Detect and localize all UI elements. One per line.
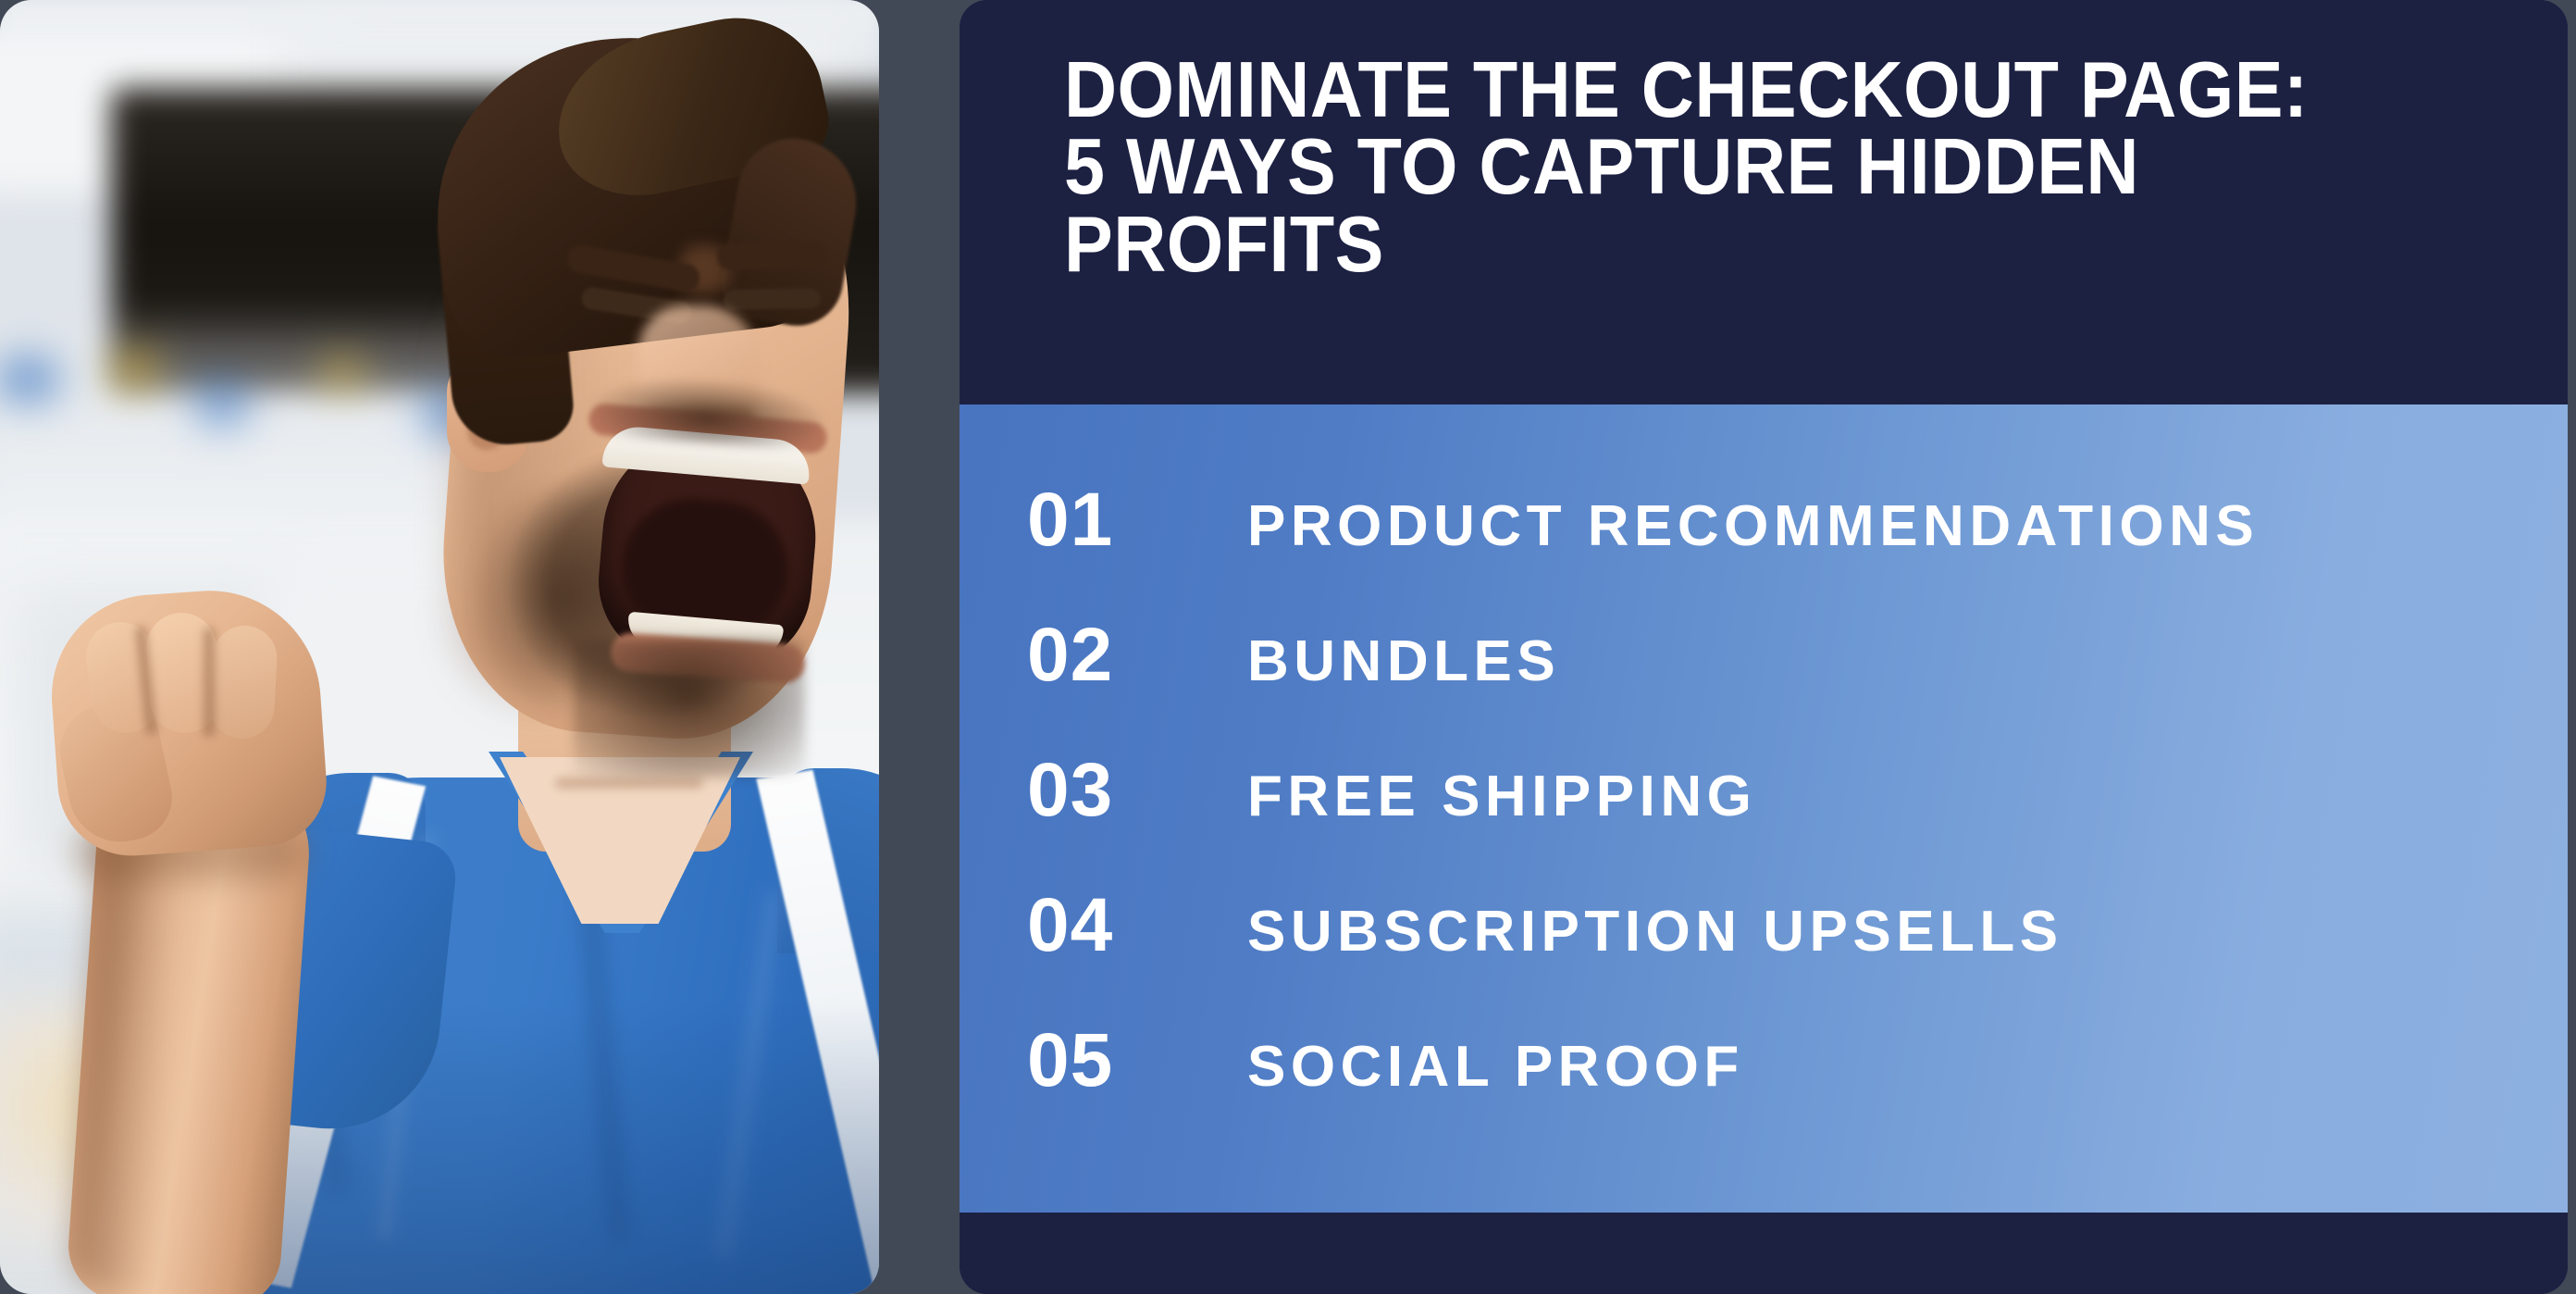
eye-right xyxy=(724,288,821,310)
list-item-label: Social Proof xyxy=(1247,1039,1744,1096)
list-item-number: 05 xyxy=(1027,1023,1247,1099)
eyebrow-right xyxy=(717,241,829,270)
list-item-number: 03 xyxy=(1027,753,1247,828)
list-item-number: 02 xyxy=(1027,617,1247,693)
list-item-label: Subscription Upsells xyxy=(1247,903,2063,961)
page-title: Dominate the Checkout Page: 5 Ways to Ca… xyxy=(1064,52,2337,283)
content-card: Dominate the Checkout Page: 5 Ways to Ca… xyxy=(960,0,2568,1294)
list-item: 01 Product Recommendations xyxy=(1027,482,2508,617)
list-item-number: 01 xyxy=(1027,482,1247,558)
card-header: Dominate the Checkout Page: 5 Ways to Ca… xyxy=(960,0,2568,404)
list-item-label: Bundles xyxy=(1247,633,1560,691)
list-item-label: Product Recommendations xyxy=(1247,498,2259,555)
beard-chin xyxy=(574,639,805,778)
knuckle-three xyxy=(208,624,279,740)
card-body: 01 Product Recommendations 02 Bundles 03… xyxy=(960,404,2568,1213)
list-item: 02 Bundles xyxy=(1027,617,2508,753)
slide-canvas: Dominate the Checkout Page: 5 Ways to Ca… xyxy=(0,0,2576,1294)
card-footer-band xyxy=(960,1213,2568,1294)
athlete-figure xyxy=(0,0,879,1294)
list-item-number: 04 xyxy=(1027,888,1247,964)
list-item: 03 Free Shipping xyxy=(1027,753,2508,888)
list-item: 04 Subscription Upsells xyxy=(1027,888,2508,1023)
numbered-list: 01 Product Recommendations 02 Bundles 03… xyxy=(1027,482,2508,1158)
finger-gap-two xyxy=(204,628,215,737)
list-item-label: Free Shipping xyxy=(1247,768,1756,826)
list-item: 05 Social Proof xyxy=(1027,1023,2508,1158)
collarbone-shadow xyxy=(555,778,703,789)
celebrating-athlete-photo xyxy=(0,0,879,1294)
hero-photo-panel xyxy=(0,0,879,1294)
